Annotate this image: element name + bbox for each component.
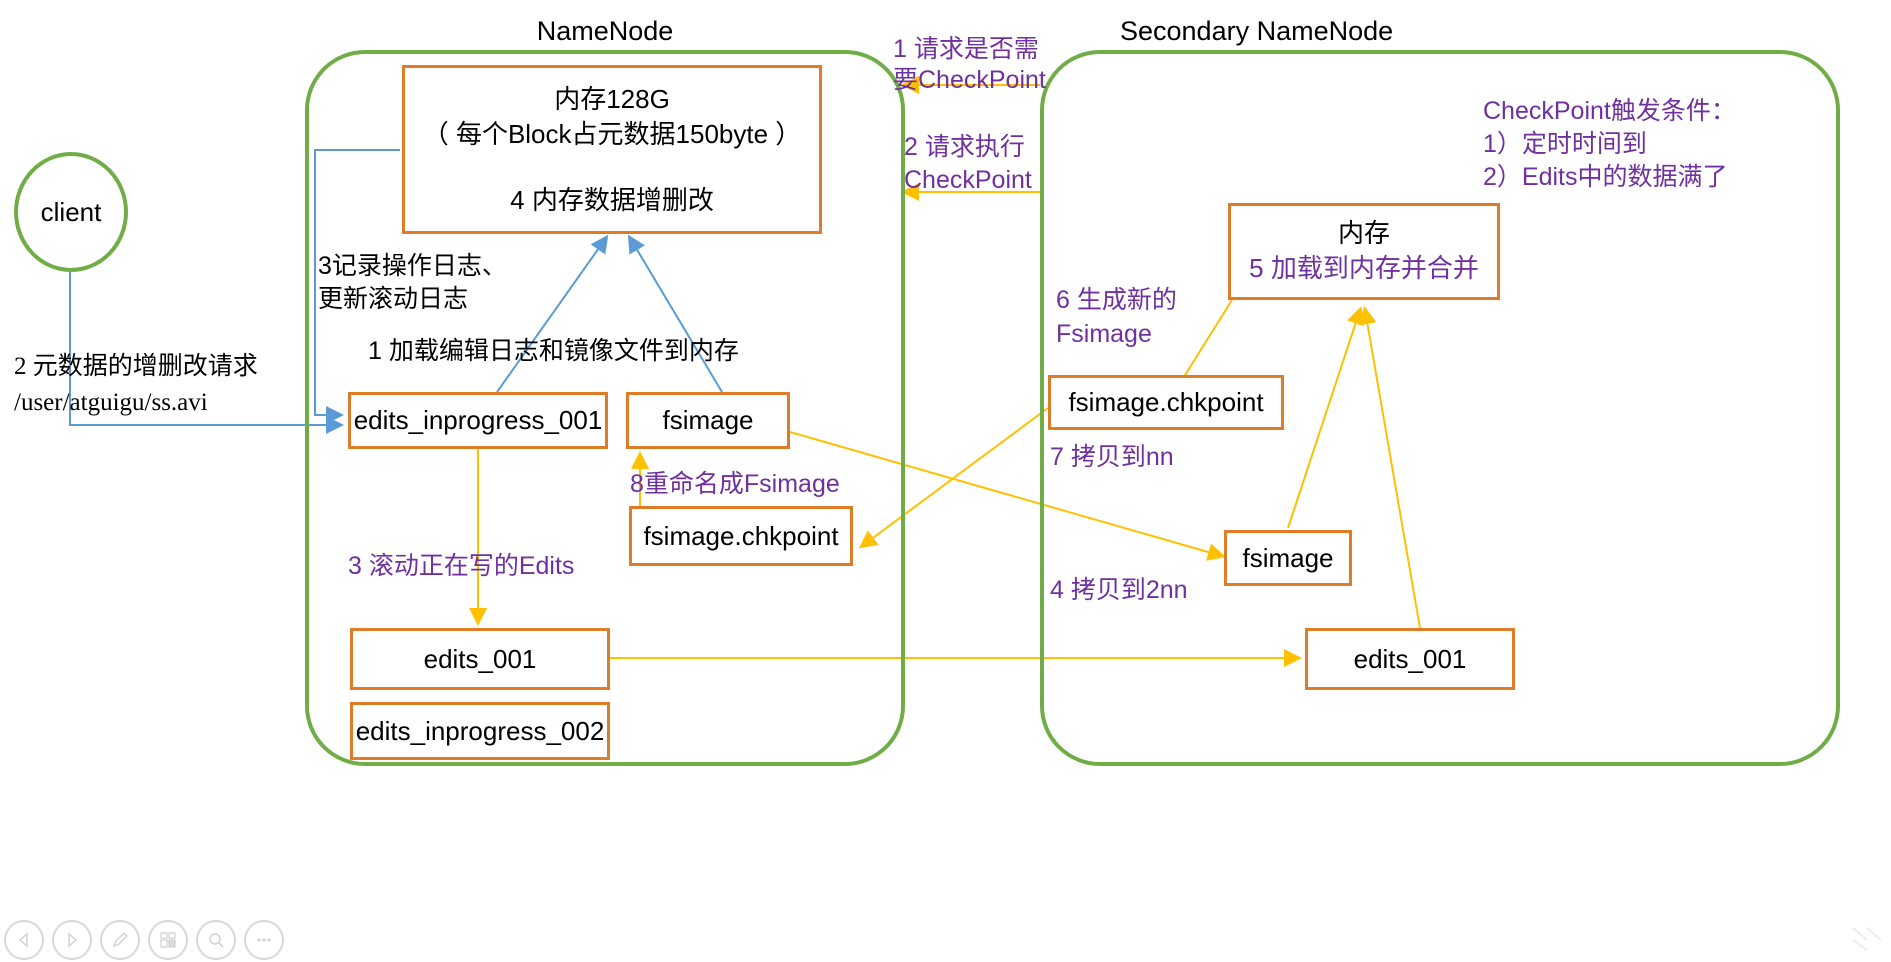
file-label: edits_inprogress_001: [354, 405, 603, 436]
bottom-toolbar[interactable]: [4, 920, 284, 960]
namenode-memory-line1: 内存128G: [554, 84, 670, 114]
file-label: fsimage: [662, 405, 753, 436]
annotation-record-log-line2: 更新滚动日志: [318, 285, 468, 315]
client-node[interactable]: client: [14, 152, 128, 272]
next-icon[interactable]: [52, 920, 92, 960]
secondary-memory-step: 5 加载到内存并合并: [1231, 248, 1497, 285]
file-label: edits_inprogress_002: [356, 716, 605, 747]
file-label: fsimage.chkpoint: [643, 521, 838, 552]
namenode-memory-text: 内存128G（ 每个Block占元数据150byte ）: [405, 82, 819, 152]
request-checkpoint-line2: 要CheckPoint: [893, 66, 1046, 96]
pen-icon[interactable]: [100, 920, 140, 960]
secondary-memory-box: 内存 5 加载到内存并合并: [1228, 203, 1500, 300]
diagram-canvas: NameNode 内存128G（ 每个Block占元数据150byte ） 4 …: [0, 0, 1891, 962]
file-box-edits-inprogress-002[interactable]: edits_inprogress_002: [350, 702, 610, 760]
annotation-new-fsimage-line1: 6 生成新的: [1056, 286, 1177, 316]
file-label: fsimage: [1242, 543, 1333, 574]
file-box-edits-inprogress-001[interactable]: edits_inprogress_001: [348, 392, 608, 449]
search-icon[interactable]: [196, 920, 236, 960]
client-label: client: [41, 197, 102, 228]
file-box-fsimage-nn[interactable]: fsimage: [626, 392, 790, 449]
annotation-rename-fsimage: 8重命名成Fsimage: [630, 470, 840, 500]
file-box-edits-001-nn[interactable]: edits_001: [350, 628, 610, 690]
file-box-fsimage-2nn[interactable]: fsimage: [1224, 530, 1352, 586]
request-exec-checkpoint-line1: 2 请求执行: [904, 133, 1025, 163]
file-label: edits_001: [1354, 644, 1467, 675]
request-checkpoint-line1: 1 请求是否需: [893, 35, 1039, 65]
checkpoint-condition-line1: CheckPoint触发条件：: [1483, 97, 1736, 127]
request-exec-checkpoint-line2: CheckPoint: [904, 166, 1032, 196]
previous-icon[interactable]: [4, 920, 44, 960]
checkpoint-condition-line2: 1）定时时间到: [1483, 130, 1647, 160]
annotation-record-log-line1: 3记录操作日志、: [318, 252, 507, 282]
namenode-memory-line2: （ 每个Block占元数据150byte ）: [423, 119, 802, 149]
annotation-roll-edits: 3 滚动正在写的Edits: [348, 552, 574, 582]
checkpoint-condition-line3: 2）Edits中的数据满了: [1483, 163, 1727, 193]
annotation-load-to-memory: 1 加载编辑日志和镜像文件到内存: [368, 337, 739, 367]
client-request-line2: /user/atguigu/ss.avi: [14, 388, 208, 418]
namenode-memory-step: 4 内存数据增删改: [405, 180, 819, 217]
client-request-line1: 2 元数据的增删改请求: [14, 352, 258, 382]
secondary-namenode-title: Secondary NameNode: [1120, 16, 1384, 48]
file-box-fsimage-chkpoint-nn[interactable]: fsimage.chkpoint: [629, 506, 853, 566]
namenode-title: NameNode: [505, 16, 705, 48]
file-box-edits-001-2nn[interactable]: edits_001: [1305, 628, 1515, 690]
annotation-copy-to-2nn: 4 拷贝到2nn: [1050, 576, 1188, 606]
annotation-new-fsimage-line2: Fsimage: [1056, 320, 1152, 350]
file-label: fsimage.chkpoint: [1068, 387, 1263, 418]
more-icon[interactable]: [244, 920, 284, 960]
file-label: edits_001: [424, 644, 537, 675]
layout-icon[interactable]: [148, 920, 188, 960]
secondary-memory-line1: 内存: [1231, 216, 1497, 251]
file-box-fsimage-chkpoint-2nn[interactable]: fsimage.chkpoint: [1048, 375, 1284, 430]
corner-mark-icon: [1851, 926, 1885, 952]
namenode-memory-box: 内存128G（ 每个Block占元数据150byte ） 4 内存数据增删改: [402, 65, 822, 234]
annotation-copy-to-nn: 7 拷贝到nn: [1050, 443, 1174, 473]
